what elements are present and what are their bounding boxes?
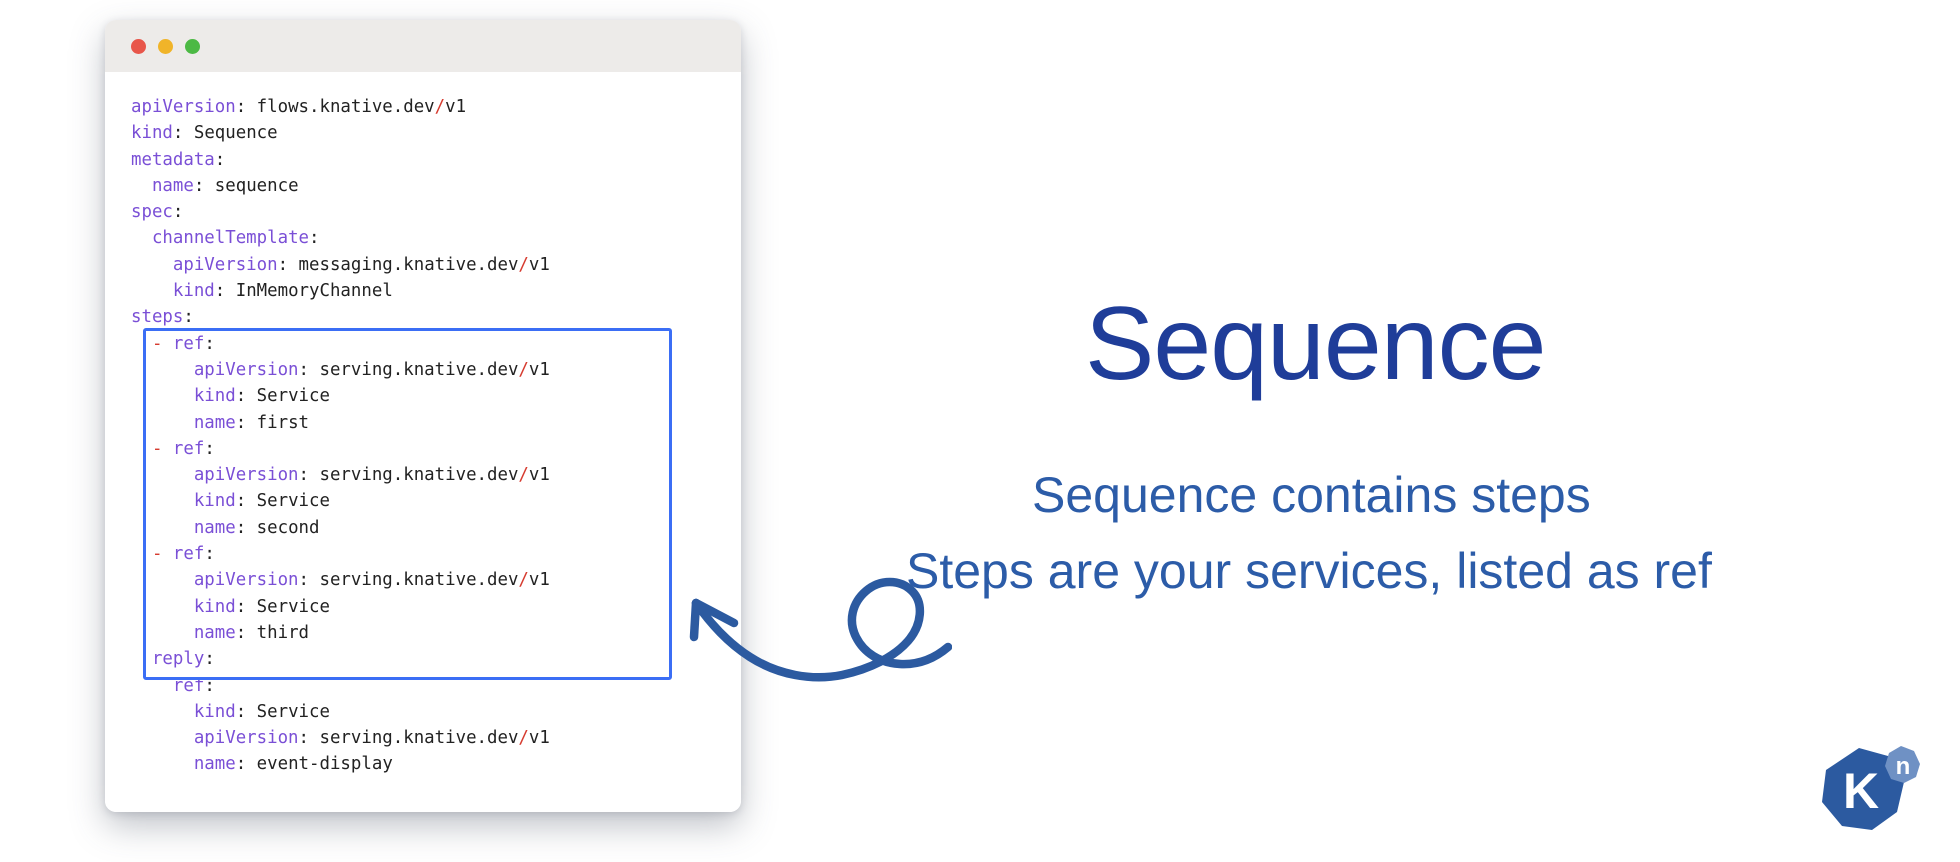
- window-titlebar: [105, 20, 741, 73]
- yaml-colon: :: [309, 228, 319, 248]
- yaml-colon: :: [194, 176, 204, 196]
- yaml-key: name: [194, 754, 236, 774]
- yaml-key: kind: [194, 702, 236, 722]
- yaml-colon: :: [204, 544, 214, 564]
- traffic-lights: [131, 39, 200, 54]
- yaml-key: name: [194, 413, 236, 433]
- yaml-version: v1: [529, 570, 550, 590]
- yaml-colon: :: [278, 255, 288, 275]
- yaml-colon: :: [215, 150, 225, 170]
- yaml-colon: :: [236, 491, 246, 511]
- yaml-key: ref: [173, 334, 204, 354]
- code-area[interactable]: apiVersion: flows.knative.dev/v1 kind: S…: [105, 72, 741, 812]
- yaml-key: steps: [131, 307, 183, 327]
- yaml-value: serving.knative.dev: [309, 728, 518, 748]
- yaml-version: v1: [529, 255, 550, 275]
- curved-arrow-annotation-icon: [672, 565, 952, 695]
- yaml-key: kind: [194, 597, 236, 617]
- yaml-colon: :: [204, 649, 214, 669]
- yaml-key: channelTemplate: [152, 228, 309, 248]
- yaml-list-dash: -: [152, 334, 173, 354]
- yaml-slash: /: [435, 97, 445, 117]
- yaml-colon: :: [236, 597, 246, 617]
- yaml-value: InMemoryChannel: [225, 281, 393, 301]
- yaml-value: flows.knative.dev: [246, 97, 434, 117]
- yaml-slash: /: [518, 465, 528, 485]
- yaml-colon: :: [236, 702, 246, 722]
- yaml-key: name: [194, 623, 236, 643]
- yaml-colon: :: [299, 360, 309, 380]
- yaml-colon: :: [299, 465, 309, 485]
- yaml-key: kind: [194, 386, 236, 406]
- maximize-button-icon[interactable]: [185, 39, 200, 54]
- yaml-value: event-display: [246, 754, 393, 774]
- yaml-key: kind: [194, 491, 236, 511]
- yaml-colon: :: [204, 676, 214, 696]
- yaml-key: metadata: [131, 150, 215, 170]
- subtitle-line-1: Sequence contains steps: [1032, 467, 1591, 523]
- yaml-key: apiVersion: [194, 360, 299, 380]
- yaml-value: second: [246, 518, 319, 538]
- yaml-value: serving.knative.dev: [309, 465, 518, 485]
- yaml-colon: :: [236, 413, 246, 433]
- yaml-key: ref: [173, 676, 204, 696]
- logo-secondary-letter: n: [1896, 753, 1911, 780]
- yaml-colon: :: [183, 307, 193, 327]
- yaml-key: kind: [131, 123, 173, 143]
- yaml-key: apiVersion: [131, 97, 236, 117]
- code-window: apiVersion: flows.knative.dev/v1 kind: S…: [105, 20, 741, 812]
- yaml-key: kind: [173, 281, 215, 301]
- yaml-colon: :: [236, 754, 246, 774]
- yaml-value: first: [246, 413, 309, 433]
- yaml-key: reply: [152, 649, 204, 669]
- yaml-value: messaging.knative.dev: [288, 255, 518, 275]
- yaml-value: Service: [246, 386, 330, 406]
- yaml-key: ref: [173, 544, 204, 564]
- yaml-version: v1: [529, 360, 550, 380]
- subtitle-line-2: Steps are your services, listed as ref: [906, 543, 1712, 599]
- yaml-colon: :: [236, 623, 246, 643]
- yaml-colon: :: [215, 281, 225, 301]
- yaml-colon: :: [173, 123, 183, 143]
- yaml-key: apiVersion: [173, 255, 278, 275]
- yaml-colon: :: [236, 97, 246, 117]
- yaml-version: v1: [445, 97, 466, 117]
- yaml-value: Sequence: [183, 123, 277, 143]
- yaml-colon: :: [236, 386, 246, 406]
- close-button-icon[interactable]: [131, 39, 146, 54]
- yaml-key: ref: [173, 439, 204, 459]
- yaml-slash: /: [518, 360, 528, 380]
- yaml-colon: :: [236, 518, 246, 538]
- yaml-code-block[interactable]: apiVersion: flows.knative.dev/v1 kind: S…: [105, 94, 741, 778]
- yaml-slash: /: [518, 570, 528, 590]
- yaml-value: Service: [246, 491, 330, 511]
- yaml-value: Service: [246, 597, 330, 617]
- yaml-colon: :: [299, 728, 309, 748]
- yaml-list-dash: -: [152, 439, 173, 459]
- yaml-value: third: [246, 623, 309, 643]
- yaml-key: apiVersion: [194, 728, 299, 748]
- yaml-key: apiVersion: [194, 570, 299, 590]
- yaml-key: apiVersion: [194, 465, 299, 485]
- yaml-version: v1: [529, 728, 550, 748]
- logo-primary-letter: K: [1843, 763, 1879, 819]
- yaml-colon: :: [204, 439, 214, 459]
- yaml-colon: :: [204, 334, 214, 354]
- yaml-slash: /: [518, 255, 528, 275]
- minimize-button-icon[interactable]: [158, 39, 173, 54]
- yaml-value: serving.knative.dev: [309, 570, 518, 590]
- yaml-slash: /: [518, 728, 528, 748]
- page-title: Sequence: [1085, 292, 1545, 396]
- yaml-list-dash: -: [152, 544, 173, 564]
- yaml-key: spec: [131, 202, 173, 222]
- yaml-value: sequence: [204, 176, 298, 196]
- yaml-value: Service: [246, 702, 330, 722]
- knative-logo: K n: [1812, 742, 1924, 842]
- yaml-value: serving.knative.dev: [309, 360, 518, 380]
- yaml-version: v1: [529, 465, 550, 485]
- yaml-colon: :: [173, 202, 183, 222]
- yaml-key: name: [152, 176, 194, 196]
- yaml-key: name: [194, 518, 236, 538]
- yaml-colon: :: [299, 570, 309, 590]
